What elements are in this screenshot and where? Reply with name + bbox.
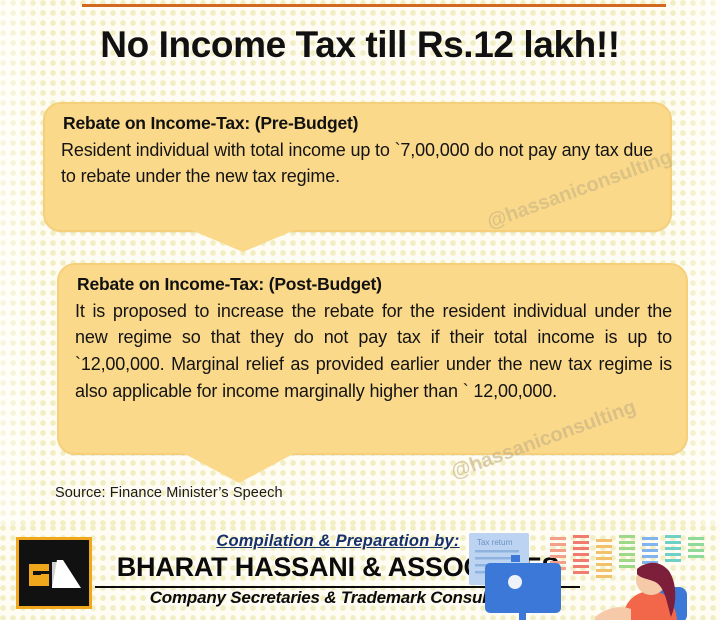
callout-title: Rebate on Income-Tax: (Post-Budget) [77,273,672,296]
bha-monogram-icon [19,540,89,606]
firm-logo [16,537,92,609]
color-bar-chart-decoration [550,535,704,578]
monitor-icon [485,563,561,620]
callout-pre-budget: Rebate on Income-Tax: (Pre-Budget) Resid… [43,102,672,232]
poster-canvas: No Income Tax till Rs.12 lakh!! Rebate o… [0,0,720,620]
callout-content: Rebate on Income-Tax: (Pre-Budget) Resid… [43,102,672,232]
document-label: Tax return [477,538,513,547]
callout-tail [183,453,295,483]
callout-content: Rebate on Income-Tax: (Post-Budget) It i… [57,263,688,455]
callout-body: Resident individual with total income up… [61,137,656,190]
top-accent-rule [82,4,666,7]
footer-bar: Compilation & Preparation by: BHARAT HAS… [0,525,720,620]
callout-tail [191,230,295,252]
source-note: Source: Finance Minister’s Speech [55,485,283,501]
callout-body: It is proposed to increase the rebate fo… [75,298,672,405]
callout-title: Rebate on Income-Tax: (Pre-Budget) [63,112,656,135]
illustration-svg: Tax return [455,525,720,620]
page-title: No Income Tax till Rs.12 lakh!! [0,24,720,66]
tax-filing-illustration: Tax return [455,525,720,620]
callout-post-budget: Rebate on Income-Tax: (Post-Budget) It i… [57,263,688,455]
